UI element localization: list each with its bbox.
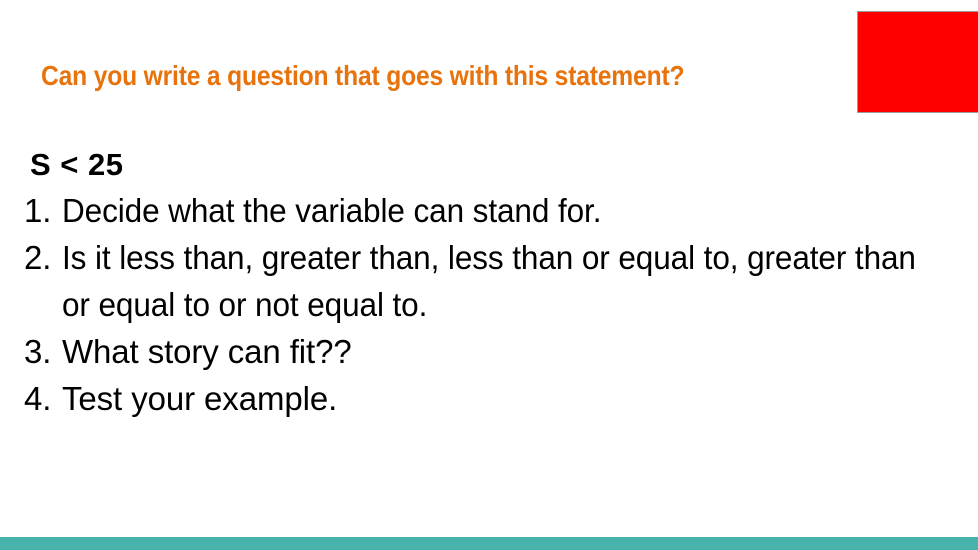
list-item: 2. Is it less than, greater than, less t… [0, 234, 960, 328]
list-item-number: 1. [24, 187, 62, 234]
slide-body: S < 25 1. Decide what the variable can s… [0, 146, 960, 422]
list-item-label: Test your example. [62, 375, 337, 422]
list-item-number: 4. [24, 375, 62, 422]
list-item: 3. What story can fit?? [0, 328, 960, 375]
list-item-number: 2. [24, 234, 62, 281]
steps-list: 1. Decide what the variable can stand fo… [0, 187, 960, 422]
list-item: 4. Test your example. [0, 375, 960, 422]
list-item: 1. Decide what the variable can stand fo… [0, 187, 960, 234]
red-placeholder-block [857, 11, 978, 113]
presentation-slide: Can you write a question that goes with … [0, 0, 978, 550]
teal-footer-bar [0, 537, 978, 550]
inequality-statement: S < 25 [0, 146, 960, 185]
list-item-label: Decide what the variable can stand for. [62, 187, 601, 234]
list-item-label: What story can fit?? [62, 328, 352, 375]
list-item-number: 3. [24, 328, 62, 375]
page-title: Can you write a question that goes with … [41, 62, 736, 90]
list-item-label: Is it less than, greater than, less than… [62, 234, 920, 328]
